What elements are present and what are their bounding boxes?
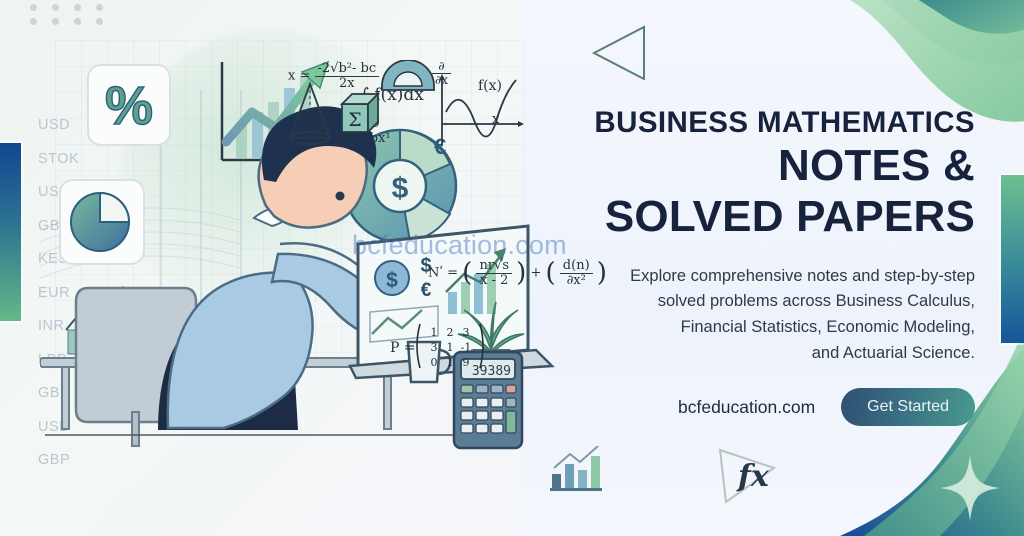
left-accent-bar [0, 143, 21, 321]
svg-text:3: 3 [463, 326, 470, 339]
geometry-shapes-group: Σ [282, 60, 532, 175]
svg-text:1: 1 [447, 356, 454, 369]
right-accent-bar [1001, 175, 1024, 343]
heading-line-2: NOTES & [560, 141, 975, 190]
description-line-2: solved problems across Business Calculus… [560, 289, 975, 315]
floor-line [45, 434, 515, 436]
svg-text:2: 2 [447, 326, 454, 339]
site-url-label: bcfeducation.com [678, 397, 815, 418]
svg-text:$: $ [392, 172, 409, 205]
svg-text:1: 1 [447, 341, 454, 354]
description-line-1: Explore comprehensive notes and step-by-… [560, 264, 975, 290]
heading-line-3: SOLVED PAPERS [560, 192, 975, 241]
fx-label: fx [736, 459, 770, 494]
svg-text:3: 3 [431, 341, 438, 354]
svg-text:-1: -1 [461, 341, 472, 354]
svg-text:9: 9 [463, 356, 470, 369]
description-line-3: Financial Statistics, Economic Modeling, [560, 315, 975, 341]
get-started-button[interactable]: Get Started [841, 388, 975, 426]
svg-text:$: $ [386, 269, 398, 292]
dot-grid-decoration [30, 4, 110, 30]
footer-row: bcfeducation.com Get Started [560, 388, 975, 426]
formula-matrix: P = 123 31-1 019 [390, 318, 486, 379]
sparkle-icon [940, 455, 1000, 521]
svg-text:1: 1 [431, 326, 438, 339]
bar-chart-icon [548, 446, 604, 494]
watermark-text: bcfeducation.com [352, 230, 567, 261]
text-content-block: BUSINESS MATHEMATICS NOTES & SOLVED PAPE… [560, 108, 975, 366]
promo-banner: USD STOK USD GBP KES EUR INR LBP GBP USD… [0, 0, 1024, 536]
function-fx-icon: fx [712, 444, 782, 506]
svg-text:0: 0 [431, 356, 438, 369]
svg-text:%: % [105, 76, 153, 136]
description-line-4: and Actuarial Science. [560, 341, 975, 367]
svg-text:Σ: Σ [348, 109, 361, 131]
triangle-outline-icon [592, 25, 652, 80]
description-text: Explore comprehensive notes and step-by-… [560, 264, 975, 367]
svg-text:P =: P = [390, 340, 416, 356]
heading-line-1: BUSINESS MATHEMATICS [560, 108, 975, 139]
